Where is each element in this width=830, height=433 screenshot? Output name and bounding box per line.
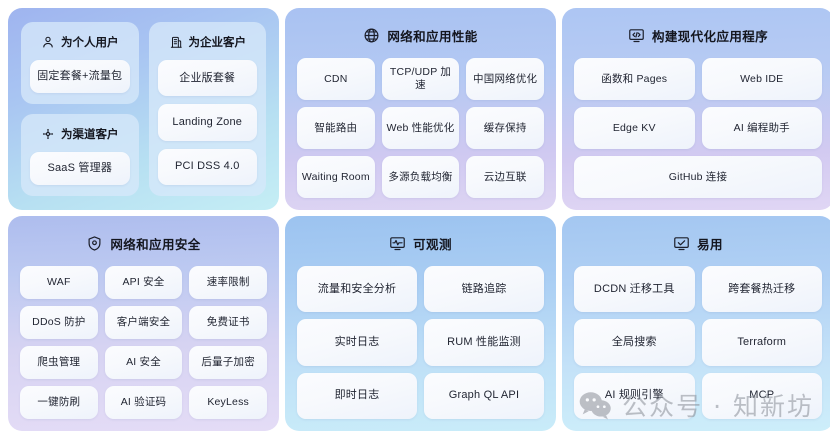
person-icon xyxy=(41,35,55,49)
panel-build-grid: 函数和 Pages Web IDE Edge KV AI 编程助手 GitHub… xyxy=(574,58,822,198)
feature-chip[interactable]: 固定套餐+流量包 xyxy=(30,60,130,93)
feature-chip[interactable]: Waiting Room xyxy=(297,156,375,198)
audience-group-channel: 为渠道客户 SaaS 管理器 xyxy=(21,114,139,196)
feature-chip[interactable]: Landing Zone xyxy=(158,104,258,140)
feature-chip[interactable]: 流量和安全分析 xyxy=(297,266,417,312)
feature-chip[interactable]: TCP/UDP 加速 xyxy=(382,58,460,100)
code-monitor-icon xyxy=(628,27,645,44)
audience-group-enterprise: 为企业客户 企业版套餐 Landing Zone PCI DSS 4.0 xyxy=(149,22,267,196)
panel-build-title: 构建现代化应用程序 xyxy=(652,26,768,45)
panel-performance-title: 网络和应用性能 xyxy=(387,26,477,45)
panel-audience: 为个人用户 固定套餐+流量包 xyxy=(8,8,279,210)
panel-observability-title: 可观测 xyxy=(413,234,452,253)
feature-chip[interactable]: 中国网络优化 xyxy=(466,58,544,100)
feature-chip[interactable]: Web IDE xyxy=(702,58,823,100)
feature-chip[interactable]: GitHub 连接 xyxy=(574,156,822,198)
feature-chip[interactable]: 爬虫管理 xyxy=(20,346,98,379)
globe-icon xyxy=(363,27,380,44)
feature-chip[interactable]: WAF xyxy=(20,266,98,299)
feature-chip[interactable]: 企业版套餐 xyxy=(158,60,258,96)
feature-chip[interactable]: 跨套餐热迁移 xyxy=(702,266,823,312)
audience-group-individual-items: 固定套餐+流量包 xyxy=(30,60,130,93)
panel-security: 网络和应用安全 WAF API 安全 速率限制 DDoS 防护 客户端安全 免费… xyxy=(8,216,279,431)
feature-chip[interactable]: DCDN 迁移工具 xyxy=(574,266,695,312)
enterprise-building-icon xyxy=(169,35,183,49)
panel-observability-header: 可观测 xyxy=(297,228,544,258)
feature-chip[interactable]: 智能路由 xyxy=(297,107,375,149)
feature-board: 为个人用户 固定套餐+流量包 xyxy=(8,8,822,425)
feature-chip[interactable]: 函数和 Pages xyxy=(574,58,695,100)
panel-ease-of-use-header: 易用 xyxy=(574,228,822,258)
feature-chip[interactable]: Edge KV xyxy=(574,107,695,149)
feature-chip[interactable]: 全局搜索 xyxy=(574,319,695,365)
panel-performance-grid: CDN TCP/UDP 加速 中国网络优化 智能路由 Web 性能优化 缓存保持… xyxy=(297,58,544,198)
feature-chip[interactable]: 一键防刷 xyxy=(20,386,98,419)
feature-chip[interactable]: 免费证书 xyxy=(189,306,267,339)
feature-chip[interactable]: AI 编程助手 xyxy=(702,107,823,149)
feature-chip[interactable]: KeyLess xyxy=(189,386,267,419)
feature-chip[interactable]: Graph QL API xyxy=(424,373,544,419)
feature-chip[interactable]: DDoS 防护 xyxy=(20,306,98,339)
panel-security-header: 网络和应用安全 xyxy=(20,228,267,258)
feature-chip[interactable]: Terraform xyxy=(702,319,823,365)
monitor-check-icon xyxy=(673,235,690,252)
channel-node-icon xyxy=(41,127,55,141)
feature-chip[interactable]: 缓存保持 xyxy=(466,107,544,149)
audience-group-channel-header: 为渠道客户 xyxy=(30,123,130,145)
feature-chip[interactable]: 速率限制 xyxy=(189,266,267,299)
audience-group-enterprise-label: 为企业客户 xyxy=(189,34,247,50)
panel-performance-header: 网络和应用性能 xyxy=(297,20,544,50)
audience-group-individual: 为个人用户 固定套餐+流量包 xyxy=(21,22,139,104)
feature-chip[interactable]: 后量子加密 xyxy=(189,346,267,379)
feature-chip[interactable]: 云边互联 xyxy=(466,156,544,198)
feature-chip[interactable]: AI 安全 xyxy=(105,346,183,379)
feature-chip[interactable]: RUM 性能监测 xyxy=(424,319,544,365)
panel-build: 构建现代化应用程序 函数和 Pages Web IDE Edge KV AI 编… xyxy=(562,8,830,210)
audience-columns: 为个人用户 固定套餐+流量包 xyxy=(21,22,266,196)
shield-icon xyxy=(86,235,103,252)
panel-security-grid: WAF API 安全 速率限制 DDoS 防护 客户端安全 免费证书 爬虫管理 … xyxy=(20,266,267,419)
feature-chip[interactable]: 客户端安全 xyxy=(105,306,183,339)
feature-chip[interactable]: PCI DSS 4.0 xyxy=(158,149,258,185)
panel-ease-of-use-grid: DCDN 迁移工具 跨套餐热迁移 全局搜索 Terraform AI 规则引擎 … xyxy=(574,266,822,419)
audience-left-column: 为个人用户 固定套餐+流量包 xyxy=(21,22,139,196)
feature-chip[interactable]: MCP xyxy=(702,373,823,419)
panel-ease-of-use: 易用 DCDN 迁移工具 跨套餐热迁移 全局搜索 Terraform AI 规则… xyxy=(562,216,830,431)
panel-performance: 网络和应用性能 CDN TCP/UDP 加速 中国网络优化 智能路由 Web 性… xyxy=(285,8,556,210)
audience-group-enterprise-items: 企业版套餐 Landing Zone PCI DSS 4.0 xyxy=(158,60,258,185)
feature-chip[interactable]: AI 规则引擎 xyxy=(574,373,695,419)
feature-chip[interactable]: Web 性能优化 xyxy=(382,107,460,149)
feature-chip[interactable]: 实时日志 xyxy=(297,319,417,365)
panel-observability-grid: 流量和安全分析 链路追踪 实时日志 RUM 性能监测 即时日志 Graph QL… xyxy=(297,266,544,419)
feature-chip[interactable]: API 安全 xyxy=(105,266,183,299)
feature-chip[interactable]: 即时日志 xyxy=(297,373,417,419)
audience-group-individual-header: 为个人用户 xyxy=(30,31,130,53)
audience-group-channel-items: SaaS 管理器 xyxy=(30,152,130,185)
panel-build-header: 构建现代化应用程序 xyxy=(574,20,822,50)
panel-observability: 可观测 流量和安全分析 链路追踪 实时日志 RUM 性能监测 即时日志 Grap… xyxy=(285,216,556,431)
audience-group-channel-label: 为渠道客户 xyxy=(61,126,119,142)
audience-group-enterprise-header: 为企业客户 xyxy=(158,31,258,53)
panel-security-title: 网络和应用安全 xyxy=(110,234,200,253)
feature-chip[interactable]: AI 验证码 xyxy=(105,386,183,419)
audience-group-individual-label: 为个人用户 xyxy=(61,34,119,50)
monitor-pulse-icon xyxy=(389,235,406,252)
feature-chip[interactable]: 多源负载均衡 xyxy=(382,156,460,198)
panel-ease-of-use-title: 易用 xyxy=(697,234,723,253)
feature-chip[interactable]: SaaS 管理器 xyxy=(30,152,130,185)
feature-chip[interactable]: CDN xyxy=(297,58,375,100)
feature-chip[interactable]: 链路追踪 xyxy=(424,266,544,312)
